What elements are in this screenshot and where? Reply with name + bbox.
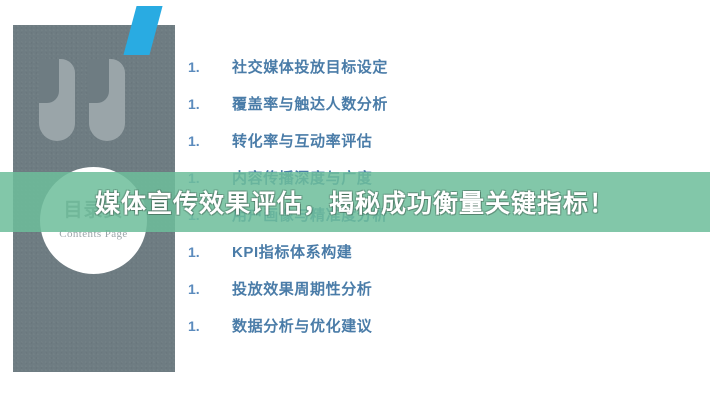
list-item[interactable]: 1. 投放效果周期性分析 (188, 278, 668, 315)
list-item-label: 覆盖率与触达人数分析 (232, 93, 388, 114)
quotation-mark-icon (39, 59, 131, 141)
overlay-banner: 媒体宣传效果评估，揭秘成功衡量关键指标！ (0, 172, 710, 232)
list-item-number: 1. (188, 96, 232, 112)
list-item-label: 数据分析与优化建议 (232, 315, 372, 336)
list-item[interactable]: 1. 转化率与互动率评估 (188, 130, 668, 167)
banner-headline: 媒体宣传效果评估，揭秘成功衡量关键指标！ (95, 184, 615, 220)
list-item-label: KPI指标体系构建 (232, 241, 352, 262)
list-item-number: 1. (188, 244, 232, 260)
list-item-label: 转化率与互动率评估 (232, 130, 372, 151)
list-item-number: 1. (188, 59, 232, 75)
slide-canvas: 目录页 Contents Page 1. 社交媒体投放目标设定 1. 覆盖率与触… (0, 0, 710, 400)
list-item[interactable]: 1. 社交媒体投放目标设定 (188, 56, 668, 93)
list-item-number: 1. (188, 318, 232, 334)
list-item[interactable]: 1. 覆盖率与触达人数分析 (188, 93, 668, 130)
list-item-number: 1. (188, 133, 232, 149)
list-item-number: 1. (188, 281, 232, 297)
list-item[interactable]: 1. KPI指标体系构建 (188, 241, 668, 278)
list-item-label: 投放效果周期性分析 (232, 278, 372, 299)
list-item-label: 社交媒体投放目标设定 (232, 56, 388, 77)
list-item[interactable]: 1. 数据分析与优化建议 (188, 315, 668, 352)
